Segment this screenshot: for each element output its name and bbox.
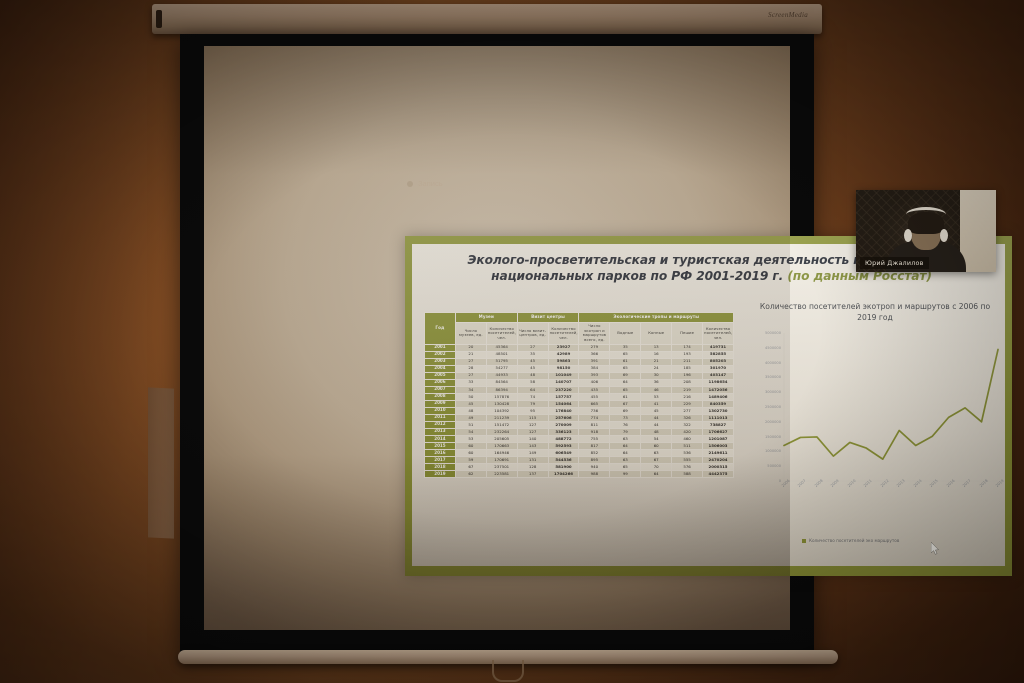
statistics-table-wrapper: Год Музеи Визит центры Экологические тро… [424, 312, 734, 478]
th-museum-visitors: Количество посетителей, чел. [486, 322, 517, 344]
cell-horse: 64 [641, 470, 672, 477]
cell-foot: 420 [672, 428, 703, 435]
cell-foot: 216 [672, 393, 703, 400]
screen-pull-handle[interactable] [492, 660, 524, 682]
cell-centers: 45 [517, 365, 548, 372]
cell-trail-visitors: 805203 [703, 358, 734, 365]
cell-horse: 16 [641, 351, 672, 358]
cell-foot: 576 [672, 463, 703, 470]
chart-y-tick: 2500000 [765, 405, 781, 409]
cell-horse: 48 [641, 428, 672, 435]
cell-museums: 33 [455, 379, 486, 386]
th-year: Год [425, 313, 456, 345]
chart-y-tick: 1000000 [765, 449, 781, 453]
cell-year: 2005 [425, 372, 456, 379]
cell-museum-visitors: 223581 [486, 470, 517, 477]
cell-year: 2012 [425, 421, 456, 428]
cell-museums: 62 [455, 470, 486, 477]
cell-foot: 555 [672, 456, 703, 463]
chart-svg [744, 327, 1005, 517]
cell-trails: 406 [579, 379, 610, 386]
cell-water: 67 [610, 400, 641, 407]
cell-centers: 58 [517, 379, 548, 386]
cell-year: 2013 [425, 428, 456, 435]
table-row: 200633845645814070740664362081198654 [425, 379, 734, 386]
cell-museum-visitors: 104392 [486, 407, 517, 414]
cell-water: 61 [610, 358, 641, 365]
table-row: 2004285427745981503846524185301970 [425, 365, 734, 372]
cell-centers: 137 [517, 470, 548, 477]
headphone-cup-right-icon [940, 229, 948, 242]
cell-horse: 54 [641, 435, 672, 442]
visitors-line-chart: Количество посетителей экотроп и маршрут… [744, 302, 1005, 564]
cell-museums: 27 [455, 372, 486, 379]
cell-centers: 45 [517, 358, 548, 365]
cell-center-visitors: 488772 [548, 435, 579, 442]
cell-center-visitors: 98150 [548, 365, 579, 372]
cell-water: 64 [610, 449, 641, 456]
cell-trail-visitors: 403147 [703, 372, 734, 379]
th-eco-trails: Экологические тропы и маршруты [579, 313, 734, 323]
cell-center-visitors: 23927 [548, 344, 579, 351]
cell-year: 2015 [425, 442, 456, 449]
cell-centers: 48 [517, 372, 548, 379]
cell-museum-visitors: 151472 [486, 421, 517, 428]
projection-screen-frame: Запись Эколого-просветительская и турист… [180, 34, 814, 654]
cell-museums: 34 [455, 386, 486, 393]
cell-year: 2014 [425, 435, 456, 442]
recording-label: Запись [418, 179, 443, 188]
cell-museum-visitors: 164946 [486, 449, 517, 456]
presentation-slide: Эколого-просветительская и туристская де… [405, 236, 1012, 576]
cell-horse: 67 [641, 456, 672, 463]
table-head: Год Музеи Визит центры Экологические тро… [425, 313, 734, 345]
cell-museums: 60 [455, 442, 486, 449]
cell-trails: 817 [579, 442, 610, 449]
headphones-band-icon [906, 207, 946, 222]
participant-name-label: Юрий Джалилов [860, 257, 929, 269]
table-group-header-row: Год Музеи Визит центры Экологические тро… [425, 313, 734, 323]
th-center-count: Число визит-центров, ед. [517, 322, 548, 344]
cell-trail-visitors: 419731 [703, 344, 734, 351]
cell-centers: 95 [517, 407, 548, 414]
cell-centers: 127 [517, 421, 548, 428]
cell-year: 2006 [425, 379, 456, 386]
cell-water: 63 [610, 435, 641, 442]
th-museum-count: Число музеев, ед. [455, 322, 486, 344]
cell-museum-visitors: 157876 [486, 393, 517, 400]
chart-y-tick: 5000000 [765, 331, 781, 335]
slide-content-area: Эколого-просветительская и туристская де… [412, 244, 1005, 566]
cell-centers: 131 [517, 456, 548, 463]
th-visit-centers: Визит центры [517, 313, 579, 323]
th-trail-visitors: Количество посетителей, чел. [703, 322, 734, 344]
cell-museums: 49 [455, 414, 486, 421]
cell-trail-visitors: 4442375 [703, 470, 734, 477]
cell-trail-visitors: 1302730 [703, 407, 734, 414]
cell-trails: 279 [579, 344, 610, 351]
cell-centers: 64 [517, 386, 548, 393]
cell-water: 35 [610, 344, 641, 351]
table-row: 2002214850135429893666516193582855 [425, 351, 734, 358]
cell-year: 2018 [425, 463, 456, 470]
cell-museum-visitors: 45364 [486, 344, 517, 351]
cell-year: 2016 [425, 449, 456, 456]
cell-center-visitors: 154064 [548, 400, 579, 407]
cell-centers: 74 [517, 393, 548, 400]
cell-water: 79 [610, 428, 641, 435]
chart-y-tick: 4500000 [765, 346, 781, 350]
chart-y-tick: 1500000 [765, 435, 781, 439]
cell-center-visitors: 257606 [548, 414, 579, 421]
cell-trail-visitors: 1198654 [703, 379, 734, 386]
th-center-visitors: Количество посетителей, чел. [548, 322, 579, 344]
cell-year: 2008 [425, 393, 456, 400]
cell-water: 69 [610, 372, 641, 379]
cell-trail-visitors: 582855 [703, 351, 734, 358]
cell-museums: 20 [455, 344, 486, 351]
cell-center-visitors: 140707 [548, 379, 579, 386]
cell-water: 61 [610, 393, 641, 400]
chart-y-tick: 500000 [767, 464, 781, 468]
recording-indicator: Запись [407, 179, 443, 188]
chart-legend: Количество посетителей эко маршрутов [802, 538, 899, 543]
cell-horse: 63 [641, 449, 672, 456]
cell-horse: 53 [641, 393, 672, 400]
cell-centers: 140 [517, 435, 548, 442]
cell-trails: 774 [579, 414, 610, 421]
cell-trails: 940 [579, 463, 610, 470]
cell-center-visitors: 592593 [548, 442, 579, 449]
cell-museums: 60 [455, 449, 486, 456]
slide-title-line1: Эколого-просветительская и туристская де… [468, 253, 870, 267]
cell-trails: 665 [579, 400, 610, 407]
cell-foot: 588 [672, 470, 703, 477]
table-row: 20156017066314359259381764605111506003 [425, 442, 734, 449]
cell-museums: 53 [455, 435, 486, 442]
cell-museum-visitors: 232264 [486, 428, 517, 435]
cell-trail-visitors: 1506003 [703, 442, 734, 449]
cell-foot: 196 [672, 372, 703, 379]
cell-water: 65 [610, 365, 641, 372]
th-museums: Музеи [455, 313, 517, 323]
cell-trails: 455 [579, 393, 610, 400]
cell-year: 2017 [425, 456, 456, 463]
cell-horse: 46 [641, 386, 672, 393]
table-row: 20114921123911525760677473443261111013 [425, 414, 734, 421]
cell-water: 65 [610, 463, 641, 470]
cell-museum-visitors: 170691 [486, 456, 517, 463]
cell-water: 65 [610, 351, 641, 358]
cell-museums: 28 [455, 365, 486, 372]
cell-trail-visitors: 2149611 [703, 449, 734, 456]
cell-museum-visitors: 84564 [486, 379, 517, 386]
cell-foot: 219 [672, 386, 703, 393]
cell-foot: 277 [672, 407, 703, 414]
cell-horse: 70 [641, 463, 672, 470]
cell-trails: 736 [579, 407, 610, 414]
cell-water: 63 [610, 456, 641, 463]
table-row: 2008501578767415775745561532161489406 [425, 393, 734, 400]
cell-centers: 143 [517, 442, 548, 449]
cell-year: 2010 [425, 407, 456, 414]
cell-trail-visitors: 738827 [703, 421, 734, 428]
cell-museum-visitors: 211239 [486, 414, 517, 421]
chart-title: Количество посетителей экотроп и маршрут… [756, 302, 994, 323]
cell-museum-visitors: 51795 [486, 358, 517, 365]
cell-museums: 54 [455, 428, 486, 435]
cell-trail-visitors: 840359 [703, 400, 734, 407]
cell-water: 64 [610, 442, 641, 449]
cell-trails: 918 [579, 428, 610, 435]
statistics-table: Год Музеи Визит центры Экологические тро… [424, 312, 734, 478]
cell-museum-visitors: 86394 [486, 386, 517, 393]
table-row: 201962223581137170426698899645884442375 [425, 470, 734, 477]
cell-center-visitors: 157757 [548, 393, 579, 400]
cell-foot: 326 [672, 414, 703, 421]
cell-water: 76 [610, 421, 641, 428]
legend-label: Количество посетителей эко маршрутов [809, 538, 899, 543]
cell-center-visitors: 336123 [548, 428, 579, 435]
cell-year: 2019 [425, 470, 456, 477]
cell-horse: 24 [641, 365, 672, 372]
cell-year: 2003 [425, 358, 456, 365]
cell-water: 99 [610, 470, 641, 477]
cell-trail-visitors: 1111013 [703, 414, 734, 421]
cell-trails: 811 [579, 421, 610, 428]
headphone-cup-left-icon [904, 229, 912, 242]
cell-horse: 30 [641, 372, 672, 379]
cell-trail-visitors: 2000315 [703, 463, 734, 470]
cell-horse: 36 [641, 379, 672, 386]
housing-mount-bracket [156, 10, 162, 28]
cell-horse: 13 [641, 344, 672, 351]
cell-center-visitors: 59863 [548, 358, 579, 365]
projector-brand-logo: ScreenMedia [768, 11, 808, 19]
cell-horse: 44 [641, 421, 672, 428]
cell-museums: 59 [455, 456, 486, 463]
record-icon [407, 181, 413, 187]
cell-horse: 41 [641, 400, 672, 407]
cell-year: 2002 [425, 351, 456, 358]
cell-center-visitors: 42989 [548, 351, 579, 358]
cell-trail-visitors: 2470204 [703, 456, 734, 463]
cell-centers: 127 [517, 428, 548, 435]
chart-y-tick: 3000000 [765, 390, 781, 394]
projector-screen-housing: ScreenMedia [152, 4, 822, 34]
table-row: 200945130428791540646656741229840359 [425, 400, 734, 407]
table-row: 20135423226412733612391879484201706627 [425, 428, 734, 435]
cell-trails: 384 [579, 365, 610, 372]
cell-year: 2007 [425, 386, 456, 393]
cell-museum-visitors: 237501 [486, 463, 517, 470]
cell-museums: 27 [455, 358, 486, 365]
cell-trails: 988 [579, 470, 610, 477]
cell-centers: 79 [517, 400, 548, 407]
table-row: 2003275179545598633916121211805203 [425, 358, 734, 365]
cell-year: 2011 [425, 414, 456, 421]
cell-trails: 393 [579, 372, 610, 379]
cell-centers: 27 [517, 344, 548, 351]
cell-centers: 35 [517, 351, 548, 358]
cell-foot: 208 [672, 379, 703, 386]
th-horse: Конные [641, 322, 672, 344]
table-sub-header-row: Число музеев, ед. Количество посетителей… [425, 322, 734, 344]
cell-center-visitors: 544536 [548, 456, 579, 463]
chart-series-line [784, 350, 998, 460]
cell-foot: 193 [672, 351, 703, 358]
cell-trails: 895 [579, 456, 610, 463]
cell-horse: 21 [641, 358, 672, 365]
cell-center-visitors: 581900 [548, 463, 579, 470]
cell-centers: 115 [517, 414, 548, 421]
cell-center-visitors: 1704266 [548, 470, 579, 477]
cell-horse: 45 [641, 407, 672, 414]
cell-museums: 45 [455, 400, 486, 407]
cell-trail-visitors: 1489406 [703, 393, 734, 400]
table-body: 2001204536427239272793513174419731200221… [425, 344, 734, 477]
cell-water: 73 [610, 414, 641, 421]
cell-foot: 511 [672, 442, 703, 449]
table-row: 200734863946423722043565462191472056 [425, 386, 734, 393]
chart-y-tick: 3500000 [765, 375, 781, 379]
table-row: 20175917069113154453689563675552470204 [425, 456, 734, 463]
cell-museums: 21 [455, 351, 486, 358]
cell-horse: 44 [641, 414, 672, 421]
cell-year: 2004 [425, 365, 456, 372]
cell-center-visitors: 237220 [548, 386, 579, 393]
chart-y-tick: 4000000 [765, 361, 781, 365]
chart-y-tick: 0 [779, 479, 781, 483]
cell-trails: 435 [579, 386, 610, 393]
cell-center-visitors: 606549 [548, 449, 579, 456]
cell-museum-visitors: 170663 [486, 442, 517, 449]
th-foot: Пешие [672, 322, 703, 344]
cell-foot: 229 [672, 400, 703, 407]
cell-center-visitors: 270009 [548, 421, 579, 428]
legend-swatch-icon [802, 539, 806, 543]
cell-water: 64 [610, 379, 641, 386]
th-water: Водные [610, 322, 641, 344]
mouse-cursor [931, 542, 940, 555]
cell-museums: 67 [455, 463, 486, 470]
cell-foot: 460 [672, 435, 703, 442]
cell-trail-visitors: 1201087 [703, 435, 734, 442]
chart-y-tick: 2000000 [765, 420, 781, 424]
table-row: 20186723750112858190094065705762000315 [425, 463, 734, 470]
cell-museum-visitors: 54277 [486, 365, 517, 372]
table-row: 20052744933481010493936930196403147 [425, 372, 734, 379]
cell-trail-visitors: 1706627 [703, 428, 734, 435]
cell-foot: 322 [672, 421, 703, 428]
cell-centers: 149 [517, 449, 548, 456]
cell-trails: 366 [579, 351, 610, 358]
cell-trail-visitors: 301970 [703, 365, 734, 372]
cell-year: 2009 [425, 400, 456, 407]
table-row: 2001204536427239272793513174419731 [425, 344, 734, 351]
cell-museums: 48 [455, 407, 486, 414]
chart-plot-area: 0500000100000015000002000000250000030000… [744, 327, 1005, 517]
table-row: 20145320560514048877275563544601201087 [425, 435, 734, 442]
webcam-background-wall [960, 190, 996, 272]
table-row: 20166016494614960654985264635362149611 [425, 449, 734, 456]
cell-museum-visitors: 48501 [486, 351, 517, 358]
cell-trails: 755 [579, 435, 610, 442]
cell-water: 65 [610, 386, 641, 393]
cell-museums: 51 [455, 421, 486, 428]
cell-year: 2001 [425, 344, 456, 351]
cell-center-visitors: 176840 [548, 407, 579, 414]
cell-center-visitors: 101049 [548, 372, 579, 379]
cell-foot: 185 [672, 365, 703, 372]
cell-water: 69 [610, 407, 641, 414]
cell-museum-visitors: 205605 [486, 435, 517, 442]
th-trail-count: Число экотроп и маршрутов всего, ед. [579, 322, 610, 344]
cell-horse: 60 [641, 442, 672, 449]
cell-trail-visitors: 1472056 [703, 386, 734, 393]
cell-trails: 852 [579, 449, 610, 456]
cell-foot: 211 [672, 358, 703, 365]
cell-museum-visitors: 130428 [486, 400, 517, 407]
cell-foot: 174 [672, 344, 703, 351]
cell-museum-visitors: 44933 [486, 372, 517, 379]
projection-screen-surface: Запись Эколого-просветительская и турист… [204, 46, 790, 630]
whiteboard-panel-left [148, 387, 174, 538]
cell-foot: 536 [672, 449, 703, 456]
webcam-overlay[interactable]: Юрий Джалилов [856, 190, 996, 272]
table-row: 2010481043929517684073669452771302730 [425, 407, 734, 414]
cell-trails: 391 [579, 358, 610, 365]
cell-museums: 50 [455, 393, 486, 400]
table-row: 2012511514721272700098117644322738827 [425, 421, 734, 428]
cell-centers: 128 [517, 463, 548, 470]
